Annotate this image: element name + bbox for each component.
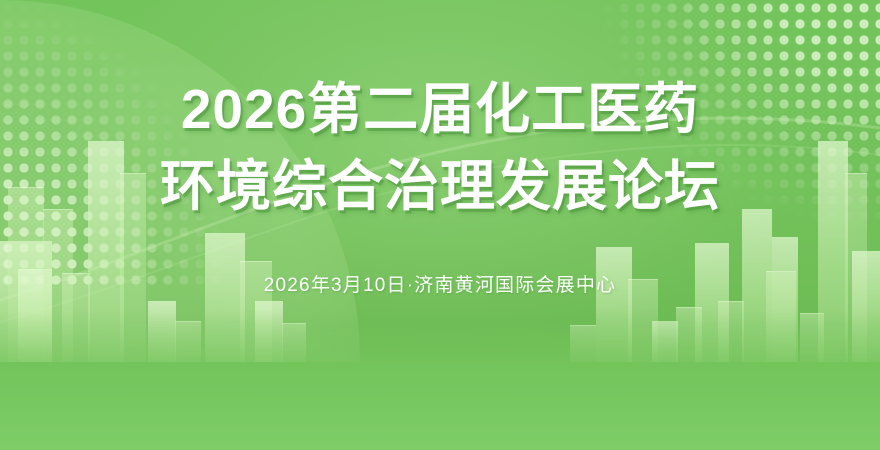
banner-content: 2026第二届化工医药 环境综合治理发展论坛 2026年3月10日·济南黄河国际…	[0, 0, 880, 450]
event-banner: 2026第二届化工医药 环境综合治理发展论坛 2026年3月10日·济南黄河国际…	[0, 0, 880, 450]
banner-title-line-1: 2026第二届化工医药	[181, 82, 699, 137]
banner-subtitle: 2026年3月10日·济南黄河国际会展中心	[264, 270, 617, 297]
banner-title-line-2: 环境综合治理发展论坛	[160, 159, 720, 214]
